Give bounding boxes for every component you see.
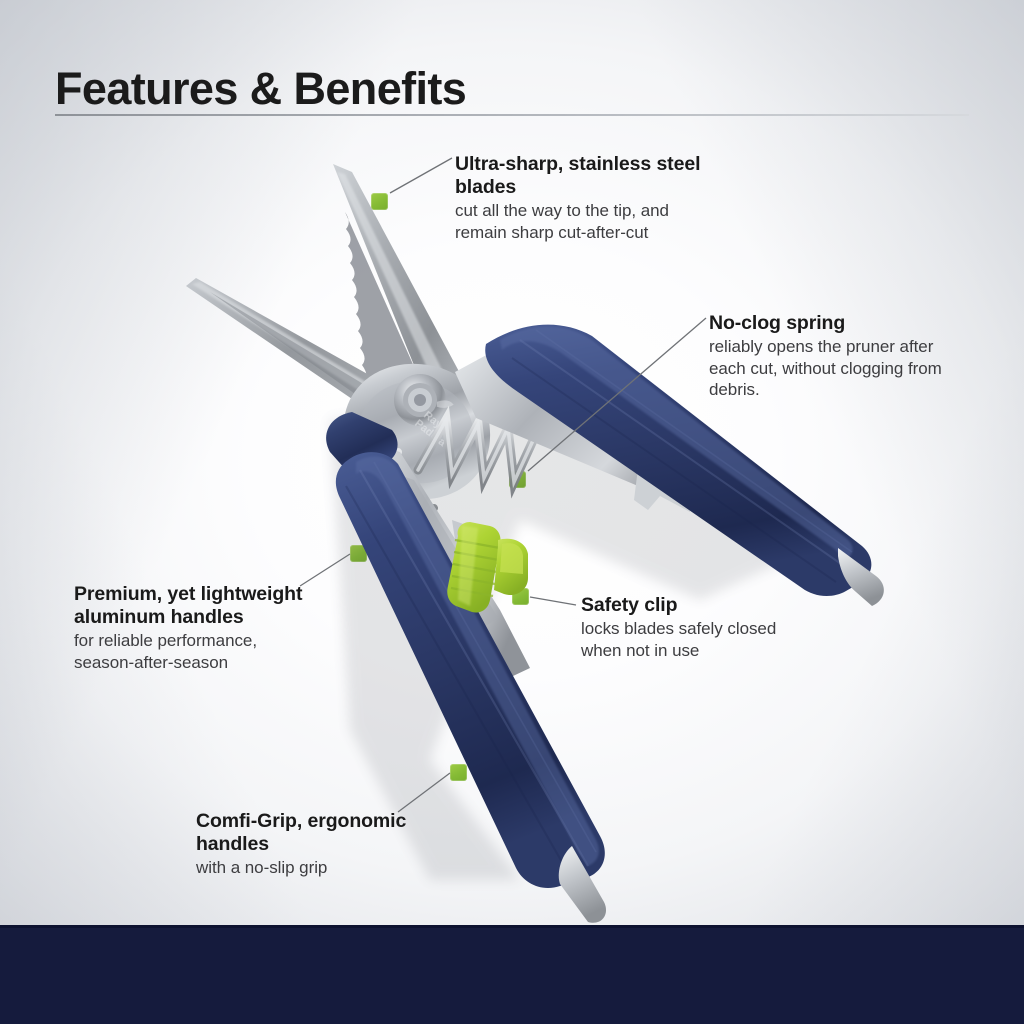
- coil-spring: [395, 420, 536, 509]
- chrome-head: Ray Padula: [345, 364, 490, 499]
- svg-text:Ray: Ray: [421, 409, 445, 431]
- page-title: Features & Benefits: [55, 63, 466, 115]
- callout-aluminum-body: for reliable performance, season-after-s…: [74, 630, 309, 673]
- infographic-canvas: Features & Benefits: [0, 0, 1024, 1024]
- callout-comfi-heading: Comfi-Grip, ergonomic handles: [196, 810, 441, 856]
- leader-line-safety: [530, 597, 576, 605]
- callout-spring-heading: No-clog spring: [709, 312, 944, 335]
- callout-blades-heading: Ultra-sharp, stainless steel blades: [455, 153, 725, 199]
- callout-spring-body: reliably opens the pruner after each cut…: [709, 336, 944, 401]
- bottom-banner: [0, 928, 1024, 1024]
- callout-aluminum-heading: Premium, yet lightweight aluminum handle…: [74, 583, 309, 629]
- marker-comfi[interactable]: [450, 764, 467, 781]
- end-cap-upper: [838, 548, 884, 606]
- callout-blades-body: cut all the way to the tip, and remain s…: [455, 200, 725, 243]
- callout-spring: No-clog spring reliably opens the pruner…: [709, 312, 944, 401]
- leader-line-aluminum: [300, 554, 350, 586]
- callout-safety-body: locks blades safely closed when not in u…: [581, 618, 821, 661]
- callout-safety-heading: Safety clip: [581, 594, 821, 617]
- blade-upper: [333, 164, 470, 412]
- marker-blades[interactable]: [371, 193, 388, 210]
- clip-ribs: [451, 540, 500, 596]
- leader-line-spring: [528, 318, 706, 471]
- callout-safety: Safety clip locks blades safely closed w…: [581, 594, 821, 661]
- pivot-bolt: [394, 374, 446, 426]
- title-divider: [55, 114, 969, 116]
- callout-comfi: Comfi-Grip, ergonomic handles with a no-…: [196, 810, 441, 879]
- marker-spring[interactable]: [509, 471, 526, 488]
- marker-safety[interactable]: [512, 588, 529, 605]
- callout-comfi-body: with a no-slip grip: [196, 857, 441, 879]
- leader-line-comfi: [398, 773, 450, 812]
- callout-aluminum: Premium, yet lightweight aluminum handle…: [74, 583, 309, 674]
- svg-text:Padula: Padula: [412, 417, 449, 449]
- end-cap-lower: [559, 846, 606, 923]
- leader-line-blades: [390, 158, 452, 193]
- callout-blades: Ultra-sharp, stainless steel blades cut …: [455, 153, 725, 244]
- marker-aluminum[interactable]: [350, 545, 367, 562]
- blade-lower: [186, 278, 446, 452]
- brand-emboss: Ray Padula: [412, 393, 468, 450]
